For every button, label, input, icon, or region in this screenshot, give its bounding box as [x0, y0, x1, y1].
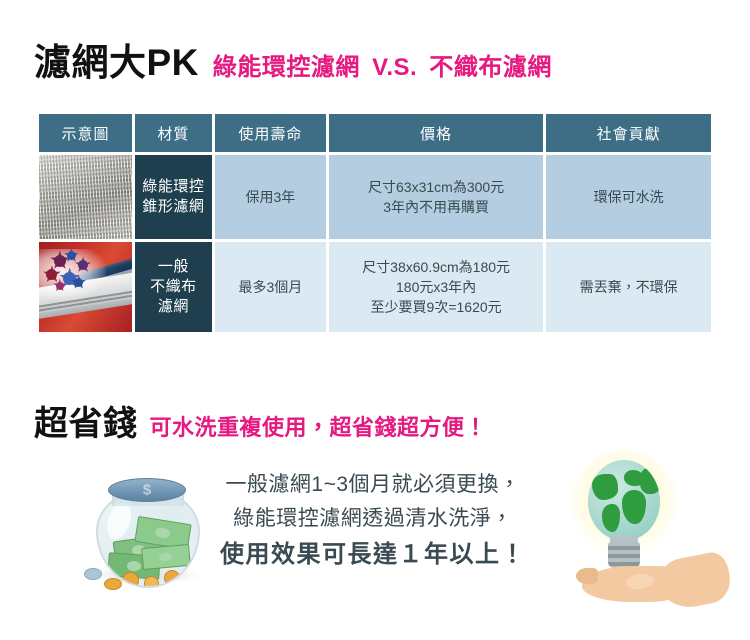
money-jar-icon — [82, 462, 212, 592]
cell-material-nonwoven-filter: 一般 不織布 濾網 — [135, 242, 212, 332]
germ-icon — [46, 269, 57, 280]
savings-body-line-2: 綠能環控濾網透過清水洗淨， — [196, 502, 550, 536]
cell-social-green-filter: 環保可水洗 — [546, 155, 711, 239]
savings-body-text: 一般濾網1~3個月就必須更換， 綠能環控濾網透過清水洗淨， 使用效果可長達１年以… — [196, 468, 550, 573]
material-line-2: 錐形濾網 — [135, 197, 212, 217]
comparison-table: 示意圖 材質 使用壽命 價格 社會貢獻 綠能環控 錐形濾網 保用3年 尺寸63x… — [36, 111, 714, 335]
green-cone-filter-mesh-photo — [39, 155, 132, 239]
price-line-2: 180元x3年內 — [329, 277, 543, 297]
coin-icon — [122, 572, 139, 588]
continent-shape — [640, 468, 660, 494]
table-header-row: 示意圖 材質 使用壽命 價格 社會貢獻 — [39, 114, 711, 152]
cell-price-nonwoven-filter: 尺寸38x60.9cm為180元 180元x3年內 至少要買9次=1620元 — [329, 242, 543, 332]
savings-body-line-3: 使用效果可長達１年以上！ — [196, 536, 550, 573]
globe-bulb-icon — [588, 460, 660, 540]
column-header-social: 社會貢獻 — [546, 114, 711, 152]
germ-icon — [56, 282, 64, 290]
table-row: 綠能環控 錐形濾網 保用3年 尺寸63x31cm為300元 3年內不用再購買 環… — [39, 155, 711, 239]
material-line-3: 濾網 — [135, 297, 212, 317]
price-line-1: 尺寸38x60.9cm為180元 — [329, 257, 543, 277]
germ-icon — [78, 260, 88, 270]
continent-shape — [602, 504, 620, 532]
hand-icon — [574, 552, 726, 610]
germ-icon — [67, 251, 76, 260]
subtitle-vs-label: V.S. — [367, 54, 422, 81]
nonwoven-filter-aircon-germs-photo — [39, 242, 132, 332]
cell-lifespan-nonwoven-filter: 最多3個月 — [215, 242, 326, 332]
cell-lifespan-green-filter: 保用3年 — [215, 155, 326, 239]
table-row: 一般 不織布 濾網 最多3個月 尺寸38x60.9cm為180元 180元x3年… — [39, 242, 711, 332]
cell-price-green-filter: 尺寸63x31cm為300元 3年內不用再購買 — [329, 155, 543, 239]
savings-heading: 超省錢 可水洗重複使用，超省錢超方便！ — [34, 396, 487, 445]
cell-diagram-green-filter — [39, 155, 132, 239]
material-line-2: 不織布 — [135, 277, 212, 297]
banknote-icon — [141, 544, 191, 570]
price-line-3: 至少要買9次=1620元 — [329, 297, 543, 317]
germ-icon — [74, 278, 83, 287]
column-header-lifespan: 使用壽命 — [215, 114, 326, 152]
coin-icon — [104, 578, 122, 590]
coin-icon — [144, 576, 159, 588]
savings-heading-main: 超省錢 — [34, 396, 138, 445]
subtitle-left-product: 綠能環控濾網 — [213, 54, 360, 81]
price-line-1: 尺寸63x31cm為300元 — [329, 177, 543, 197]
fingertip-shape — [576, 568, 598, 584]
savings-body-line-1: 一般濾網1~3個月就必須更換， — [196, 468, 550, 502]
coin-icon — [164, 570, 180, 586]
cell-material-green-filter: 綠能環控 錐形濾網 — [135, 155, 212, 239]
subtitle-right-product: 不織布濾網 — [429, 54, 552, 81]
earth-lightbulb-in-hand-icon — [568, 448, 728, 608]
savings-heading-sub: 可水洗重複使用，超省錢超方便！ — [150, 410, 488, 442]
jar-lid-icon — [108, 478, 186, 502]
cell-social-nonwoven-filter: 需丟棄，不環保 — [546, 242, 711, 332]
coin-icon — [84, 568, 102, 580]
page-title: 濾網大PK 綠能環控濾網 V.S. 不織布濾網 — [34, 32, 552, 86]
continent-shape — [622, 490, 646, 524]
column-header-price: 價格 — [329, 114, 543, 152]
germ-icon — [54, 255, 66, 267]
page-title-main: 濾網大PK — [34, 32, 199, 86]
column-header-diagram: 示意圖 — [39, 114, 132, 152]
price-line-2: 3年內不用再購買 — [329, 197, 543, 217]
material-line-1: 綠能環控 — [135, 177, 212, 197]
material-line-1: 一般 — [135, 257, 212, 277]
column-header-material: 材質 — [135, 114, 212, 152]
continent-shape — [592, 474, 618, 500]
page-subtitle: 綠能環控濾網 V.S. 不織布濾網 — [213, 47, 552, 82]
cell-diagram-nonwoven-filter — [39, 242, 132, 332]
